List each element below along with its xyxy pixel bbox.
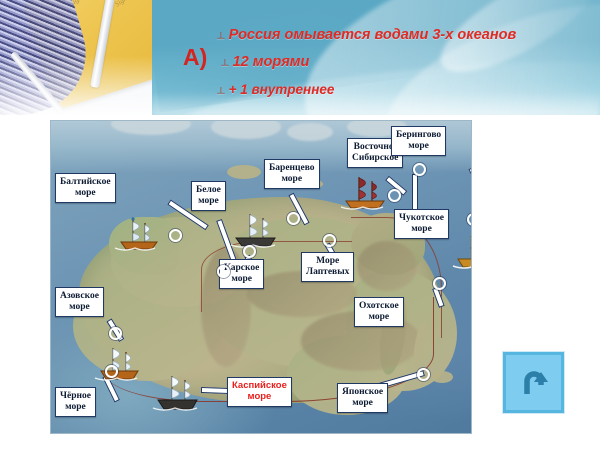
pin-azov [109,327,122,340]
label-caspian-sea[interactable]: Каспийское море [227,377,292,407]
label-line-1: Азовское [60,291,99,301]
ship-baltic-icon [113,215,165,258]
ship-kara-icon [229,209,283,256]
u-turn-arrow-icon [518,367,550,399]
label-line-1: Море [316,256,339,266]
label-okhotsk-sea[interactable]: Охотское море [354,297,404,327]
label-azov-sea[interactable]: Азовское море [55,287,104,317]
header-line-1: ⊥Россия омывается водами 3-х океанов [216,27,516,43]
slide-canvas: Signature Signature А) ⊥Россия омывается… [0,0,600,450]
pin-white [217,265,230,278]
label-laptev-sea[interactable]: Море Лаптевых [301,252,354,282]
label-line-2: море [196,196,221,207]
label-chukchi-sea[interactable]: Чукотское море [394,209,449,239]
label-black-sea[interactable]: Чёрное море [55,387,96,417]
label-line-2: море [224,274,259,285]
novaya-zemlya-island [227,165,261,179]
label-white-sea[interactable]: Белое море [191,181,226,211]
label-line-1: Чукотское [399,213,444,223]
label-line-1: Охотское [359,301,399,311]
header-line-3: ⊥+ 1 внутреннее [216,82,334,97]
label-japan-sea[interactable]: Японское море [337,383,388,413]
label-line-1: Японское [342,387,383,397]
ship-east-siberian-icon [339,173,391,218]
pin-barents [287,212,300,225]
label-line-1: Берингово [396,130,441,140]
label-line-1: Баренцево [269,163,315,173]
bullet-glyph-icon: ⊥ [216,85,226,96]
label-line-2: море [232,392,287,403]
pin-kara [243,245,256,258]
notebook-and-pen-photo: Signature Signature [0,0,152,115]
label-line-1: Белое [196,185,221,195]
label-line-2: море [269,174,315,185]
header-text-block: А) ⊥Россия омывается водами 3-х океанов … [152,0,600,115]
header-line-2: ⊥12 морями [220,54,309,70]
label-line-2: море [396,141,441,152]
bullet-glyph-icon: ⊥ [216,30,226,41]
label-line-1: Каспийское [232,380,287,391]
label-line-1: Чёрное [60,391,91,401]
header-line-3-text: + 1 внутреннее [229,82,335,97]
label-bering-sea[interactable]: Берингово море [391,126,446,156]
ice-patch [287,123,333,141]
label-line-2: море [342,398,383,409]
label-line-2: море [359,312,399,323]
ship-caspian-icon [151,371,205,418]
label-baltic-sea[interactable]: Балтийское море [55,173,116,203]
pin-black [105,365,118,378]
japan-island [431,371,453,383]
physical-map-of-russia[interactable]: Балтийское море Белое море Баренцево мор… [50,120,472,434]
ship-bering-icon [451,231,472,276]
label-line-2: море [60,402,91,413]
bullet-glyph-icon: ⊥ [220,57,230,68]
handwriting-scribble: Signature [114,0,141,8]
pin-chukchi [413,163,426,176]
label-barents-sea[interactable]: Баренцево море [264,159,320,189]
header-line-2-text: 12 морями [233,54,310,70]
return-to-menu-button[interactable] [503,352,564,413]
answer-marker-a: А) [183,46,207,69]
pin-laptev [323,234,336,247]
ship-azov-icon [93,343,145,388]
pin-okhotsk [433,277,446,290]
label-line-2: море [60,188,111,199]
pin-baltic [169,229,182,242]
label-line-2: Лаптевых [306,267,349,278]
header-line-1-text: Россия омывается водами 3-х океанов [229,27,517,43]
pin-japan [417,368,430,381]
label-line-2: море [60,302,99,313]
pin-east-siberian [388,189,401,202]
photo-highlight [0,56,152,115]
label-line-1: Балтийское [60,177,111,187]
label-line-2: море [399,224,444,235]
